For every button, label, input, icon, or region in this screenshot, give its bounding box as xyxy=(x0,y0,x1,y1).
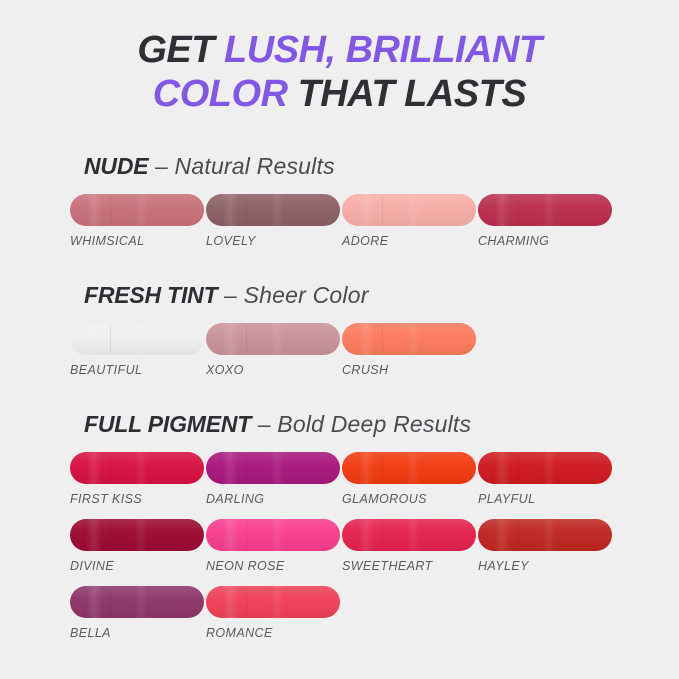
swatch-label: BELLA xyxy=(70,626,204,640)
color-swatch[interactable] xyxy=(342,452,476,484)
swatch-rows: FIRST KISS DARLING GLAMOROUS PLAYFUL xyxy=(0,452,679,653)
swatch-row: FIRST KISS DARLING GLAMOROUS PLAYFUL xyxy=(0,452,679,519)
swatch-label: BEAUTIFUL xyxy=(70,363,204,377)
color-swatch[interactable] xyxy=(478,194,612,226)
color-swatch[interactable] xyxy=(206,519,340,551)
swatch-label: SWEETHEART xyxy=(342,559,476,573)
swatch-cell[interactable]: SWEETHEART xyxy=(342,519,476,573)
page-title: GET LUSH, BRILLIANT COLOR THAT LASTS xyxy=(0,28,679,116)
swatch-cell[interactable]: PLAYFUL xyxy=(478,452,612,506)
swatch-row: BEAUTIFUL XOXO CRUSH xyxy=(0,323,679,390)
title-segment-color: COLOR xyxy=(153,73,298,115)
swatch-cell[interactable]: ROMANCE xyxy=(206,586,340,640)
swatch-cell[interactable]: LOVELY xyxy=(206,194,340,248)
section-subtitle: Natural Results xyxy=(175,153,335,179)
swatch-cell[interactable]: GLAMOROUS xyxy=(342,452,476,506)
color-swatch[interactable] xyxy=(342,519,476,551)
swatch-label: HAYLEY xyxy=(478,559,612,573)
section-name: FRESH TINT xyxy=(84,282,217,308)
swatch-cell[interactable]: DARLING xyxy=(206,452,340,506)
lipstick-shade-chart: GET LUSH, BRILLIANT COLOR THAT LASTS NUD… xyxy=(0,0,679,679)
swatch-row: WHIMSICAL LOVELY ADORE CHARMING xyxy=(0,194,679,261)
swatch-row: DIVINE NEON ROSE SWEETHEART HAYLEY xyxy=(0,519,679,586)
section-separator: – xyxy=(217,282,243,308)
swatch-row: BELLA ROMANCE xyxy=(0,586,679,653)
section-header: FULL PIGMENT – Bold Deep Results xyxy=(0,410,679,438)
swatch-label: WHIMSICAL xyxy=(70,234,204,248)
swatch-label: FIRST KISS xyxy=(70,492,204,506)
swatch-cell[interactable]: ADORE xyxy=(342,194,476,248)
swatch-cell[interactable]: BELLA xyxy=(70,586,204,640)
swatch-cell[interactable]: CHARMING xyxy=(478,194,612,248)
title-line-2: COLOR THAT LASTS xyxy=(0,72,679,116)
swatch-cell[interactable]: DIVINE xyxy=(70,519,204,573)
color-swatch[interactable] xyxy=(70,323,204,355)
title-segment-lush-brilliant: LUSH, BRILLIANT xyxy=(224,29,542,71)
swatch-label: CRUSH xyxy=(342,363,476,377)
section-subtitle: Sheer Color xyxy=(244,282,369,308)
swatch-label: LOVELY xyxy=(206,234,340,248)
color-swatch[interactable] xyxy=(206,323,340,355)
swatch-cell[interactable]: CRUSH xyxy=(342,323,476,377)
swatch-label: CHARMING xyxy=(478,234,612,248)
color-swatch[interactable] xyxy=(70,586,204,618)
color-swatch[interactable] xyxy=(206,586,340,618)
swatch-label: ROMANCE xyxy=(206,626,340,640)
swatch-cell[interactable]: WHIMSICAL xyxy=(70,194,204,248)
swatch-rows: WHIMSICAL LOVELY ADORE CHARMING xyxy=(0,194,679,261)
swatch-cell[interactable]: FIRST KISS xyxy=(70,452,204,506)
section-full-pigment: FULL PIGMENT – Bold Deep Results FIRST K… xyxy=(0,410,679,653)
color-swatch[interactable] xyxy=(70,194,204,226)
title-segment-that-lasts: THAT LASTS xyxy=(298,73,527,115)
swatch-label: DIVINE xyxy=(70,559,204,573)
title-segment-get: GET xyxy=(137,29,224,71)
section-fresh-tint: FRESH TINT – Sheer Color BEAUTIFUL XOXO … xyxy=(0,281,679,390)
color-swatch[interactable] xyxy=(70,452,204,484)
swatch-label: GLAMOROUS xyxy=(342,492,476,506)
swatch-label: PLAYFUL xyxy=(478,492,612,506)
color-swatch[interactable] xyxy=(70,519,204,551)
section-subtitle: Bold Deep Results xyxy=(277,411,471,437)
swatch-label: ADORE xyxy=(342,234,476,248)
section-separator: – xyxy=(148,153,174,179)
color-swatch[interactable] xyxy=(206,452,340,484)
swatch-label: XOXO xyxy=(206,363,340,377)
section-separator: – xyxy=(251,411,277,437)
color-swatch[interactable] xyxy=(342,194,476,226)
swatch-cell[interactable]: XOXO xyxy=(206,323,340,377)
color-swatch[interactable] xyxy=(478,452,612,484)
swatch-label: DARLING xyxy=(206,492,340,506)
swatch-rows: BEAUTIFUL XOXO CRUSH xyxy=(0,323,679,390)
color-swatch[interactable] xyxy=(342,323,476,355)
section-name: FULL PIGMENT xyxy=(84,411,251,437)
section-nude: NUDE – Natural Results WHIMSICAL LOVELY … xyxy=(0,152,679,261)
section-header: NUDE – Natural Results xyxy=(0,152,679,180)
swatch-label: NEON ROSE xyxy=(206,559,340,573)
swatch-cell[interactable]: BEAUTIFUL xyxy=(70,323,204,377)
title-line-1: GET LUSH, BRILLIANT xyxy=(0,28,679,72)
color-swatch[interactable] xyxy=(478,519,612,551)
section-name: NUDE xyxy=(84,153,148,179)
section-header: FRESH TINT – Sheer Color xyxy=(0,281,679,309)
swatch-cell[interactable]: NEON ROSE xyxy=(206,519,340,573)
swatch-cell[interactable]: HAYLEY xyxy=(478,519,612,573)
color-swatch[interactable] xyxy=(206,194,340,226)
